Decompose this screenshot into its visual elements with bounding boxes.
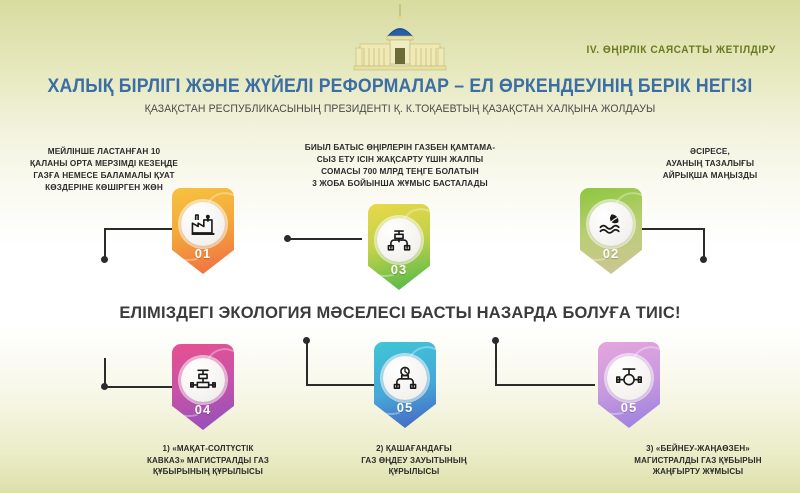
text-line: СЫЗ ЕТУ ІСІН ЖАҚСАРТУ ҮШІН ЖАЛПЫ xyxy=(285,154,515,166)
text-line: СОМАСЫ 700 МЛРД ТЕҢГЕ БОЛАТЫН xyxy=(285,166,515,178)
connector-dot xyxy=(492,337,499,344)
pipeline-valve-icon xyxy=(190,367,216,393)
badge-05[interactable]: 05 xyxy=(374,342,436,428)
connector-line xyxy=(495,384,595,386)
text-line: КАВКАЗ» МАГИСТРАЛДЫ ГАЗ xyxy=(110,455,306,467)
badge-04[interactable]: 04 xyxy=(172,344,234,430)
badge-disc xyxy=(383,356,427,400)
badge-02[interactable]: 02 xyxy=(580,188,642,274)
text-line: МЕЙЛІНШЕ ЛАСТАНҒАН 10 xyxy=(14,146,194,158)
badge-disc xyxy=(589,202,633,246)
text-line: 3 ЖОБА БОЙЫНША ЖҰМЫС БАСТАЛАДЫ xyxy=(285,178,515,190)
connector-dot xyxy=(101,256,108,263)
text-line: ӘСІРЕСЕ, xyxy=(630,146,790,158)
badge-number: 05 xyxy=(374,400,436,415)
connector-line xyxy=(104,386,172,388)
text-line: КӨЗДЕРІНЕ КӨШІРГЕН ЖӨН xyxy=(14,182,194,194)
akorda-palace-icon xyxy=(338,4,462,76)
text-line: 2) ҚАШАҒАНДАҒЫ xyxy=(320,443,508,455)
connector-dot xyxy=(700,256,707,263)
badge-06[interactable]: 05 xyxy=(598,342,660,428)
text-block-02: ӘСІРЕСЕ, АУАНЫҢ ТАЗАЛЫҒЫ АЙРЫҚША МАҢЫЗДЫ xyxy=(630,146,790,182)
section-banner: ЕЛІМІЗДЕГІ ЭКОЛОГИЯ МӘСЕЛЕСІ БАСТЫ НАЗАР… xyxy=(12,303,788,323)
text-line: ЖАҢҒЫРТУ ЖҰМЫСЫ xyxy=(600,466,796,478)
text-line: АУАНЫҢ ТАЗАЛЫҒЫ xyxy=(630,158,790,170)
text-line: 3) «БЕЙНЕУ-ЖАҢАӨЗЕН» xyxy=(600,443,796,455)
connector-line xyxy=(637,228,705,230)
badge-number: 04 xyxy=(172,402,234,417)
caption-04: 1) «МАҚАТ-СОЛТҮСТІК КАВКАЗ» МАГИСТРАЛДЫ … xyxy=(110,443,306,478)
badge-number: 01 xyxy=(172,246,234,261)
badge-disc xyxy=(607,356,651,400)
badge-disc xyxy=(377,218,421,262)
badge-03[interactable]: 03 xyxy=(368,204,430,290)
section-kicker: IV. ӨҢІРЛІК САЯСАТТЫ ЖЕТІЛДІРУ xyxy=(587,44,776,56)
connector-line xyxy=(104,228,174,230)
text-line: ГАЗ ӨҢДЕУ ЗАУЫТЫНЫҢ xyxy=(320,455,508,467)
factory-icon xyxy=(190,211,216,237)
text-block-03: БИЫЛ БАТЫС ӨҢІРЛЕРІН ГАЗБЕН ҚАМТАМА- СЫЗ… xyxy=(285,142,515,190)
connector-dot xyxy=(284,235,291,242)
text-block-01: МЕЙЛІНШЕ ЛАСТАНҒАН 10 ҚАЛАНЫ ОРТА МЕРЗІМ… xyxy=(14,146,194,194)
gauge-valve-icon xyxy=(392,365,418,391)
leaf-water-icon xyxy=(598,211,624,237)
text-line: ҚАЛАНЫ ОРТА МЕРЗІМДІ КЕЗЕҢДЕ xyxy=(14,158,194,170)
ball-valve-icon xyxy=(616,365,642,391)
connector-line xyxy=(306,384,378,386)
connector-line xyxy=(306,340,308,386)
badge-disc xyxy=(181,202,225,246)
connector-line xyxy=(288,238,362,240)
badge-number: 02 xyxy=(580,246,642,261)
badge-disc xyxy=(181,358,225,402)
page-title: ХАЛЫҚ БІРЛІГІ ЖӘНЕ ЖҮЙЕЛІ РЕФОРМАЛАР – Е… xyxy=(28,76,772,98)
badge-number: 05 xyxy=(598,400,660,415)
text-line: ҚҰРЫЛЫСЫ xyxy=(320,466,508,478)
text-line: МАГИСТРАЛДЫ ГАЗ ҚҰБЫРЫН xyxy=(600,455,796,467)
gas-valve-icon xyxy=(386,227,412,253)
text-line: АЙРЫҚША МАҢЫЗДЫ xyxy=(630,170,790,182)
connector-dot xyxy=(101,383,108,390)
badge-01[interactable]: 01 xyxy=(172,188,234,274)
text-line: 1) «МАҚАТ-СОЛТҮСТІК xyxy=(110,443,306,455)
infographic-poster: IV. ӨҢІРЛІК САЯСАТТЫ ЖЕТІЛДІРУ ХАЛЫҚ БІР… xyxy=(0,0,800,493)
text-line: БИЫЛ БАТЫС ӨҢІРЛЕРІН ГАЗБЕН ҚАМТАМА- xyxy=(285,142,515,154)
text-line: ГАЗҒА НЕМЕСЕ БАЛАМАЛЫ ҚУАТ xyxy=(14,170,194,182)
badge-number: 03 xyxy=(368,262,430,277)
caption-06: 3) «БЕЙНЕУ-ЖАҢАӨЗЕН» МАГИСТРАЛДЫ ГАЗ ҚҰБ… xyxy=(600,443,796,478)
connector-line xyxy=(495,340,497,386)
text-line: ҚҰБЫРЫНЫҢ ҚҰРЫЛЫСЫ xyxy=(110,466,306,478)
connector-dot xyxy=(303,337,310,344)
page-subtitle: ҚАЗАҚСТАН РЕСПУБЛИКАСЫНЫҢ ПРЕЗИДЕНТІ Қ. … xyxy=(20,103,780,115)
caption-05: 2) ҚАШАҒАНДАҒЫ ГАЗ ӨҢДЕУ ЗАУЫТЫНЫҢ ҚҰРЫЛ… xyxy=(320,443,508,478)
